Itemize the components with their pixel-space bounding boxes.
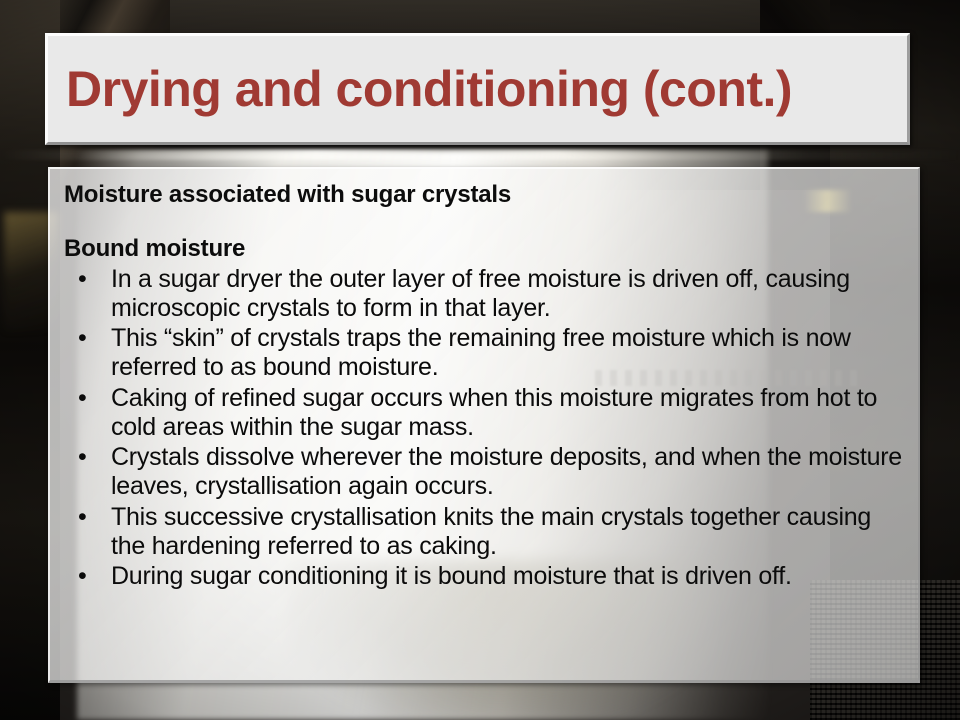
bullet-dot-icon: • (78, 503, 87, 532)
list-item-text: Caking of refined sugar occurs when this… (111, 384, 877, 441)
list-item-text: This “skin” of crystals traps the remain… (111, 324, 851, 381)
bullet-dot-icon: • (78, 384, 87, 413)
list-item-text: This successive crystallisation knits th… (111, 503, 871, 560)
slide-title-plate: Drying and conditioning (cont.) (45, 33, 910, 145)
slide-content-plate: Moisture associated with sugar crystals … (48, 167, 920, 683)
list-item-text: During sugar conditioning it is bound mo… (111, 562, 792, 590)
list-item-text: Crystals dissolve wherever the moisture … (111, 443, 902, 500)
list-item: • During sugar conditioning it is bound … (64, 562, 904, 591)
content-subheading: Bound moisture (64, 235, 904, 263)
list-item: • This “skin” of crystals traps the rema… (64, 324, 904, 383)
presentation-slide: Drying and conditioning (cont.) Moisture… (0, 0, 960, 720)
page-title: Drying and conditioning (cont.) (48, 63, 792, 116)
content-body: Moisture associated with sugar crystals … (50, 169, 918, 591)
list-item: • This successive crystallisation knits … (64, 503, 904, 562)
list-item: • Crystals dissolve wherever the moistur… (64, 443, 904, 502)
heading-spacer (64, 209, 904, 235)
bullet-dot-icon: • (78, 562, 87, 591)
bullet-dot-icon: • (78, 324, 87, 353)
bullet-dot-icon: • (78, 265, 87, 294)
list-item-text: In a sugar dryer the outer layer of free… (111, 265, 850, 322)
bullet-list: • In a sugar dryer the outer layer of fr… (64, 265, 904, 592)
list-item: • Caking of refined sugar occurs when th… (64, 384, 904, 443)
content-heading: Moisture associated with sugar crystals (64, 181, 904, 209)
bullet-dot-icon: • (78, 443, 87, 472)
list-item: • In a sugar dryer the outer layer of fr… (64, 265, 904, 324)
